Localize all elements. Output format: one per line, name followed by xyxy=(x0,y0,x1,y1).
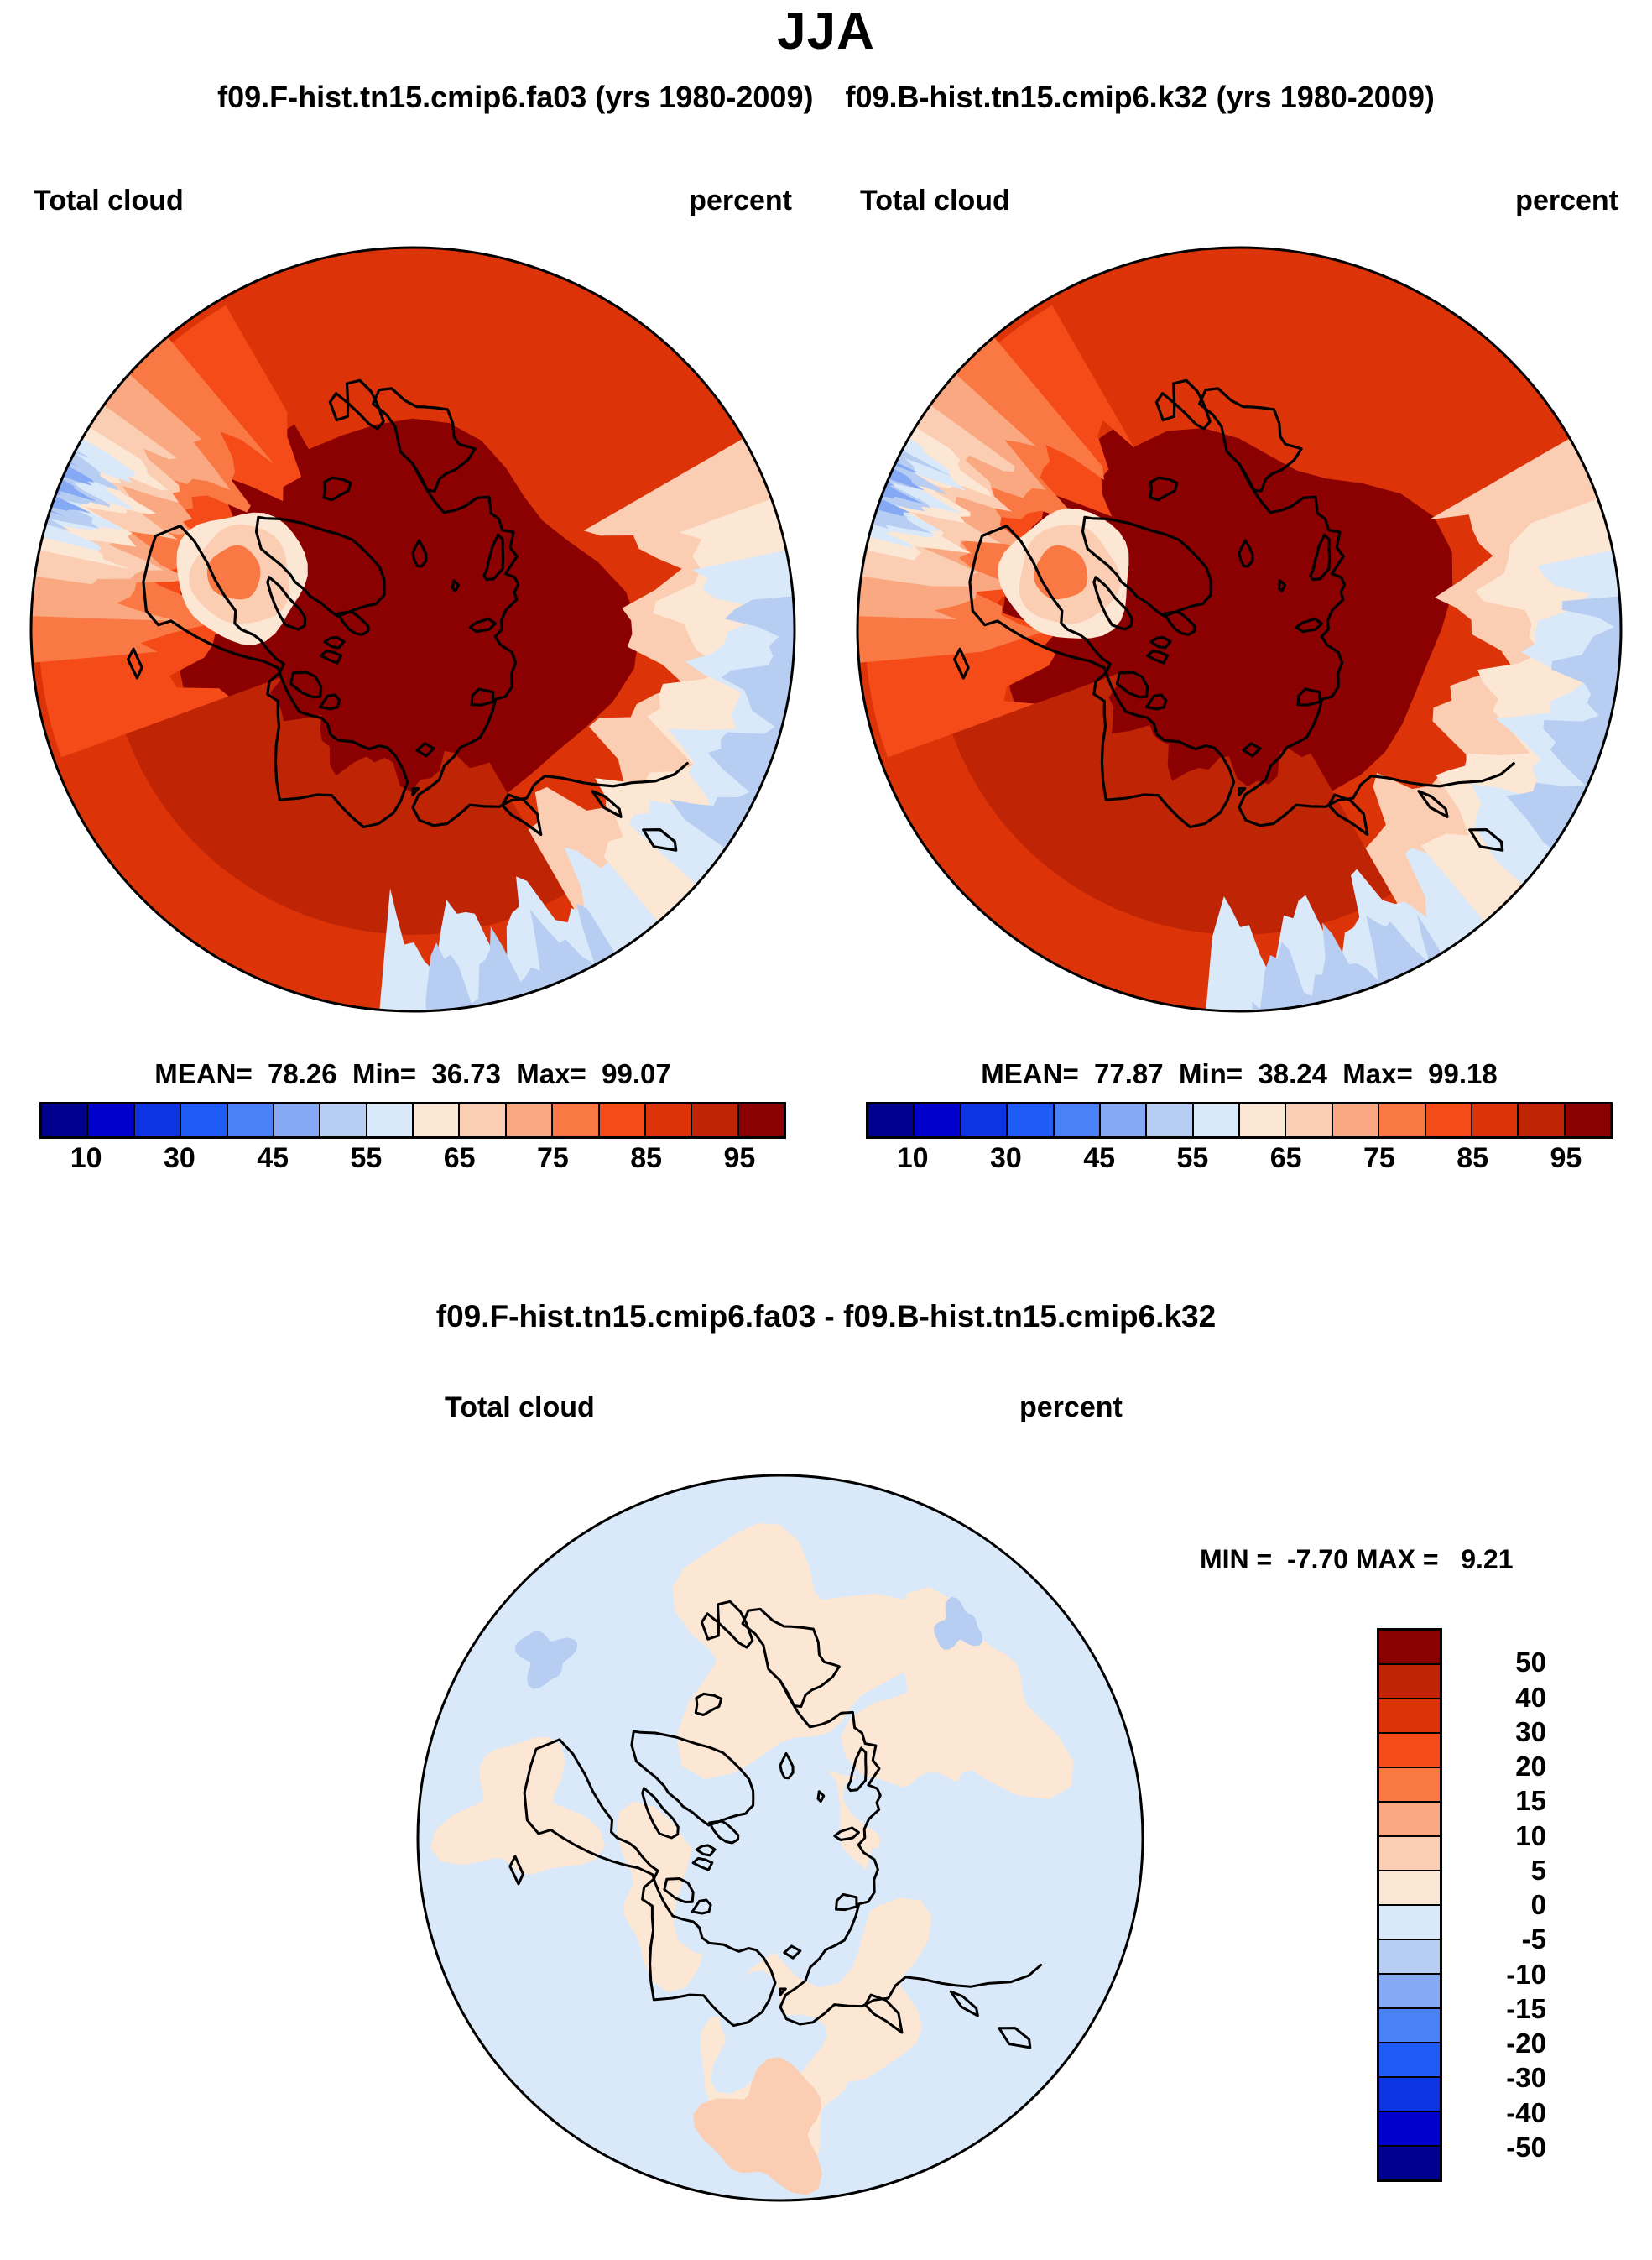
colorbar-cell xyxy=(1008,1104,1054,1136)
colorbar-tick-label: 30 xyxy=(164,1142,195,1175)
colorbar-tick-label: 10 xyxy=(897,1142,929,1175)
colorbar-cell xyxy=(1240,1104,1286,1136)
colorbar-tick-label: 75 xyxy=(1363,1142,1395,1175)
colorbar-tick-label: 45 xyxy=(257,1142,289,1175)
colorbar-tick-label: -30 xyxy=(1454,2062,1546,2094)
panel-difference-map xyxy=(403,1435,1158,2245)
panel-right-units: percent xyxy=(1515,185,1618,217)
case-titles-row: f09.F-hist.tn15.cmip6.fa03 (yrs 1980-200… xyxy=(0,80,1652,115)
colorbar-tick-label: -15 xyxy=(1454,1993,1546,2025)
colorbar-cell xyxy=(414,1104,460,1136)
panel-left-header: Total cloud percent xyxy=(0,176,826,227)
colorbar-left-wrap: 1030455565758595 xyxy=(0,1102,826,1182)
colorbar-tick-label: 40 xyxy=(1454,1682,1546,1714)
colorbar-left[interactable] xyxy=(39,1102,786,1139)
colorbar-tick-label: 30 xyxy=(1454,1716,1546,1748)
colorbar-cell xyxy=(88,1104,134,1136)
colorbar-cell xyxy=(460,1104,506,1136)
colorbar-difference-wrap: 50403020151050-5-10-15-20-30-40-50 xyxy=(1377,1628,1555,2182)
colorbar-tick-label: 55 xyxy=(1176,1142,1208,1175)
colorbar-cell xyxy=(1333,1104,1379,1136)
panel-right-stats: MEAN= 77.87 Min= 38.24 Max= 99.18 xyxy=(826,1058,1652,1090)
colorbar-cell xyxy=(42,1104,88,1136)
colorbar-cell xyxy=(553,1104,599,1136)
colorbar-cell xyxy=(961,1104,1008,1136)
colorbar-tick-label: 85 xyxy=(630,1142,662,1175)
colorbar-tick-label: -40 xyxy=(1454,2097,1546,2129)
season-title: JJA xyxy=(0,2,1652,61)
colorbar-cell xyxy=(1519,1104,1565,1136)
colorbar-cell xyxy=(1379,1665,1440,1699)
colorbar-cell xyxy=(1379,1837,1440,1871)
panel-right-header: Total cloud percent xyxy=(826,176,1652,227)
colorbar-tick-label: 45 xyxy=(1083,1142,1115,1175)
colorbar-tick-label: 50 xyxy=(1454,1647,1546,1678)
colorbar-cell xyxy=(1426,1104,1472,1136)
colorbar-cell xyxy=(600,1104,646,1136)
panel-difference-header: Total cloud percent xyxy=(0,1385,1292,1435)
panel-difference-units: percent xyxy=(1019,1391,1123,1424)
case-title-left: f09.F-hist.tn15.cmip6.fa03 (yrs 1980-200… xyxy=(217,80,813,115)
colorbar-tick-label: 55 xyxy=(350,1142,382,1175)
difference-title: f09.F-hist.tn15.cmip6.fa03 - f09.B-hist.… xyxy=(0,1299,1652,1334)
colorbar-cell xyxy=(1379,2078,1440,2112)
panel-left-units: percent xyxy=(689,185,792,217)
colorbar-cell xyxy=(1379,2009,1440,2043)
colorbar-cell xyxy=(1286,1104,1332,1136)
colorbar-tick-label: 20 xyxy=(1454,1751,1546,1782)
colorbar-cell xyxy=(646,1104,692,1136)
colorbar-cell xyxy=(739,1104,784,1136)
colorbar-right-wrap: 1030455565758595 xyxy=(826,1102,1652,1182)
colorbar-cell xyxy=(1055,1104,1101,1136)
colorbar-cell xyxy=(1472,1104,1519,1136)
colorbar-cell xyxy=(1379,1768,1440,1803)
colorbar-right[interactable] xyxy=(866,1102,1613,1139)
colorbar-tick-label: 65 xyxy=(444,1142,476,1175)
colorbar-cell xyxy=(1379,1803,1440,1837)
polar-map-right xyxy=(826,227,1652,1049)
colorbar-cell xyxy=(367,1104,414,1136)
colorbar-tick-label: 65 xyxy=(1270,1142,1302,1175)
panel-difference-minmax: MIN = -7.70 MAX = 9.21 xyxy=(1200,1544,1513,1575)
panel-right-variable: Total cloud xyxy=(860,185,1010,217)
colorbar-left-labels: 1030455565758595 xyxy=(39,1139,786,1182)
colorbar-cell xyxy=(1194,1104,1240,1136)
colorbar-cell xyxy=(181,1104,227,1136)
colorbar-tick-label: 15 xyxy=(1454,1785,1546,1817)
colorbar-cell xyxy=(274,1104,320,1136)
colorbar-difference[interactable] xyxy=(1377,1628,1442,2182)
polar-map-left xyxy=(0,227,826,1049)
colorbar-right-labels: 1030455565758595 xyxy=(866,1139,1613,1182)
colorbar-cell xyxy=(692,1104,738,1136)
colorbar-cell xyxy=(1101,1104,1147,1136)
colorbar-tick-label: 85 xyxy=(1457,1142,1488,1175)
panel-left-map xyxy=(0,227,826,1053)
colorbar-tick-label: -50 xyxy=(1454,2132,1546,2163)
colorbar-tick-label: 75 xyxy=(537,1142,569,1175)
panel-right: Total cloud percent MEAN= 77.87 Min= 38.… xyxy=(826,176,1652,1182)
colorbar-tick-label: 0 xyxy=(1454,1889,1546,1921)
panel-left-stats: MEAN= 78.26 Min= 36.73 Max= 99.07 xyxy=(0,1058,826,1090)
colorbar-cell xyxy=(1147,1104,1193,1136)
colorbar-cell xyxy=(1379,1104,1425,1136)
colorbar-tick-label: 10 xyxy=(1454,1820,1546,1852)
polar-map-difference xyxy=(403,1435,1158,2241)
colorbar-cell xyxy=(1379,1871,1440,1906)
colorbar-tick-label: 30 xyxy=(990,1142,1022,1175)
panel-difference: Total cloud percent MIN = -7.70 MAX = 9.… xyxy=(0,1385,1652,2257)
colorbar-cell xyxy=(1379,1631,1440,1665)
panel-left: Total cloud percent MEAN= 78.26 Min= 36.… xyxy=(0,176,826,1182)
colorbar-cell xyxy=(915,1104,961,1136)
colorbar-tick-label: -20 xyxy=(1454,2028,1546,2059)
colorbar-cell xyxy=(1379,1734,1440,1768)
panel-difference-variable: Total cloud xyxy=(445,1391,595,1424)
colorbar-cell xyxy=(1379,1699,1440,1734)
colorbar-cell xyxy=(1379,1940,1440,1975)
colorbar-tick-label: 10 xyxy=(70,1142,102,1175)
colorbar-cell xyxy=(1379,2043,1440,2078)
colorbar-difference-labels: 50403020151050-5-10-15-20-30-40-50 xyxy=(1454,1628,1555,2182)
colorbar-cell xyxy=(1566,1104,1610,1136)
colorbar-tick-label: 5 xyxy=(1454,1855,1546,1887)
panel-left-variable: Total cloud xyxy=(34,185,184,217)
colorbar-cell xyxy=(1379,1906,1440,1940)
colorbar-cell xyxy=(135,1104,181,1136)
colorbar-cell xyxy=(1379,1975,1440,2009)
colorbar-tick-label: -10 xyxy=(1454,1959,1546,1991)
colorbar-tick-label: -5 xyxy=(1454,1923,1546,1955)
colorbar-cell xyxy=(1379,2147,1440,2179)
colorbar-cell xyxy=(228,1104,274,1136)
colorbar-cell xyxy=(507,1104,553,1136)
colorbar-cell xyxy=(868,1104,915,1136)
panel-right-map xyxy=(826,227,1652,1053)
colorbar-tick-label: 95 xyxy=(723,1142,755,1175)
colorbar-cell xyxy=(320,1104,367,1136)
colorbar-cell xyxy=(1379,2112,1440,2147)
colorbar-tick-label: 95 xyxy=(1550,1142,1582,1175)
case-title-right: f09.B-hist.tn15.cmip6.k32 (yrs 1980-2009… xyxy=(846,80,1435,115)
